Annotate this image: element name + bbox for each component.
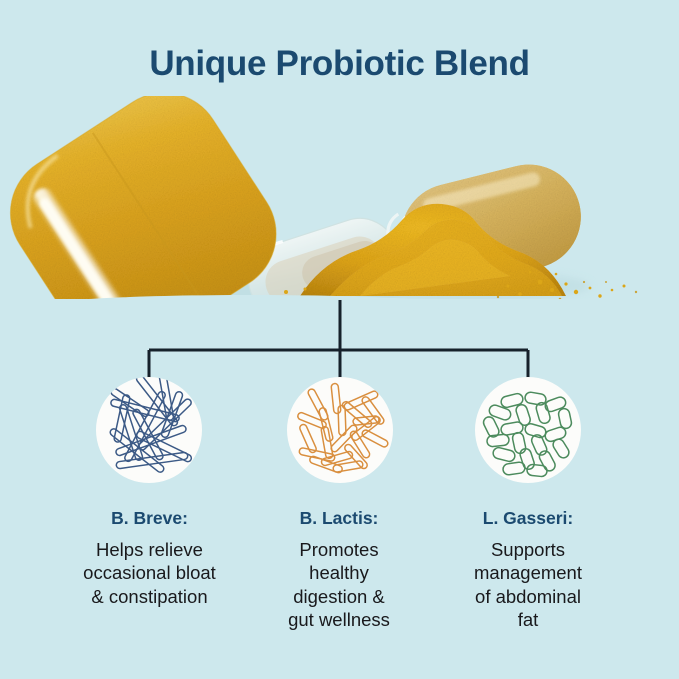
strain-icon-circle-l-gasseri xyxy=(475,377,581,483)
icon-circle-background xyxy=(287,377,393,483)
strain-description: Supports management of abdominal fat xyxy=(441,538,615,631)
strain-text-b-lactis: B. Lactis: Promotes healthy digestion & … xyxy=(249,508,429,631)
strain-icon-circle-b-breve xyxy=(96,377,202,483)
strain-description: Promotes healthy digestion & gut wellnes… xyxy=(249,538,429,631)
strain-text-l-gasseri: L. Gasseri: Supports management of abdom… xyxy=(441,508,615,631)
infographic-root: Unique Probiotic Blend xyxy=(0,0,679,679)
page-title: Unique Probiotic Blend xyxy=(0,44,679,84)
probiotic-capsules-photo xyxy=(0,96,679,311)
strain-icon-circle-b-lactis xyxy=(287,377,393,483)
icon-circle-background xyxy=(475,377,581,483)
strain-heading: L. Gasseri: xyxy=(441,508,615,529)
strain-text-b-breve: B. Breve: Helps relieve occasional bloat… xyxy=(42,508,257,608)
strain-heading: B. Breve: xyxy=(42,508,257,529)
strain-description: Helps relieve occasional bloat & constip… xyxy=(42,538,257,608)
icon-circle-background xyxy=(96,377,202,483)
strain-heading: B. Lactis: xyxy=(249,508,429,529)
connector-bracket xyxy=(0,296,679,386)
